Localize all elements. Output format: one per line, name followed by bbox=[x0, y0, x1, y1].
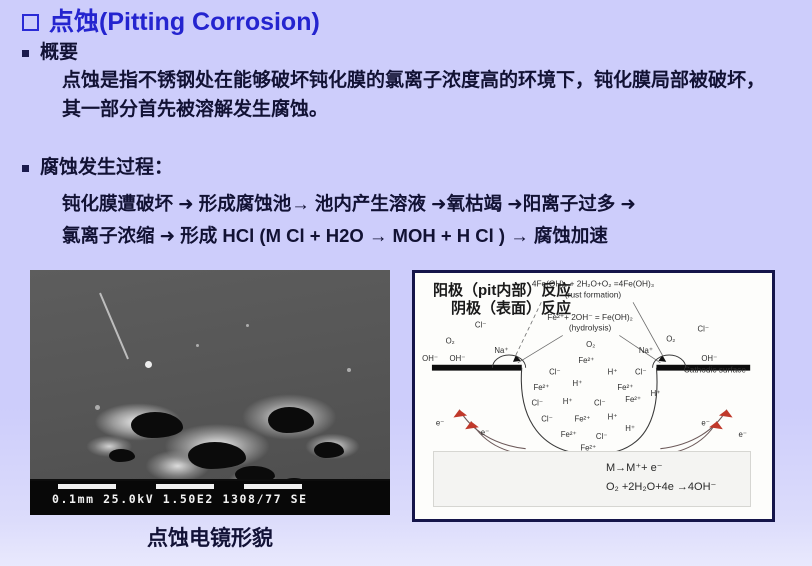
ion-label: Cl⁻ bbox=[596, 432, 607, 441]
electron-label: e⁻ bbox=[701, 418, 709, 427]
sem-micrograph-figure: 0.1mm 25.0kV 1.50E2 1308/77 SE bbox=[30, 270, 390, 515]
section-process-label: 腐蚀发生过程： bbox=[40, 155, 173, 181]
ion-label: Na⁺ bbox=[639, 346, 653, 355]
slide-title: 点蚀(Pitting Corrosion) bbox=[22, 2, 320, 38]
section-overview: 概要 点蚀是指不锈钢处在能够破坏钝化膜的氯离子浓度高的环境下，钝化膜局部被破坏，… bbox=[22, 40, 777, 125]
corrosion-pit bbox=[109, 449, 135, 462]
electron-label: e⁻ bbox=[738, 430, 746, 439]
ion-label: H⁺ bbox=[608, 412, 618, 421]
surface-speck bbox=[196, 344, 199, 347]
surface-speck bbox=[95, 405, 100, 410]
ion-label: OH⁻ bbox=[701, 354, 717, 363]
ion-label: Cl⁻ bbox=[594, 399, 605, 408]
section-overview-paragraph: 点蚀是指不锈钢处在能够破坏钝化膜的氯离子浓度高的环境下，钝化膜局部被破坏，其一部… bbox=[62, 66, 777, 125]
ion-label: Fe²⁺ bbox=[578, 356, 594, 365]
section-overview-label: 概要 bbox=[40, 40, 78, 66]
ion-label: Fe²⁺ bbox=[625, 395, 641, 404]
rust-reaction-line-2: (rust formation) bbox=[565, 289, 621, 299]
ion-label: O₂ bbox=[666, 334, 675, 343]
sem-bright-particle bbox=[145, 361, 152, 368]
corrosion-pit bbox=[268, 407, 314, 433]
pitting-mechanism-diagram: 4Fe(OH)₂ + 2H₂O+O₂ =4Fe(OH)₃ (rust forma… bbox=[412, 270, 775, 522]
ion-label: O₂ bbox=[586, 340, 595, 349]
ion-label: H⁺ bbox=[573, 379, 583, 388]
sem-scale-ticks bbox=[30, 484, 390, 489]
cathodic-reaction-cn-label: 阴极（表面）反应 bbox=[451, 297, 571, 493]
hydrolysis-reaction-line-2: (hydrolysis) bbox=[569, 323, 612, 333]
ion-label: Cl⁻ bbox=[635, 368, 646, 377]
ion-label: H⁺ bbox=[651, 389, 661, 398]
ion-label: H⁺ bbox=[625, 424, 635, 433]
sem-info-bar-text: 0.1mm 25.0kV 1.50E2 1308/77 SE bbox=[52, 492, 308, 506]
section-process-heading: 腐蚀发生过程： bbox=[22, 155, 636, 181]
sem-micrograph-image: 0.1mm 25.0kV 1.50E2 1308/77 SE bbox=[30, 270, 390, 515]
square-bullet-icon bbox=[22, 165, 29, 172]
surface-speck bbox=[246, 324, 249, 327]
sem-figure-caption: 点蚀电镜形貌 bbox=[30, 522, 390, 552]
section-overview-heading: 概要 bbox=[22, 40, 777, 66]
page-title: 点蚀(Pitting Corrosion) bbox=[49, 2, 320, 38]
ion-label: Fe²⁺ bbox=[574, 414, 590, 423]
cathodic-surface-label: Cathodic surface bbox=[684, 365, 747, 375]
surface-speck bbox=[347, 368, 351, 372]
anodic-equation: M→M⁺+ e⁻ bbox=[606, 461, 663, 474]
ion-label: H⁺ bbox=[608, 368, 618, 377]
process-flow-line-1: 钝化膜遭破坏 ➜ 形成腐蚀池→ 池内产生溶液 ➜氧枯竭 ➜阳离子过多 ➜ bbox=[62, 188, 636, 220]
hollow-square-bullet-icon bbox=[22, 14, 39, 31]
process-flow-line-2: 氯离子浓缩 ➜ 形成 HCl (M Cl + H2O → MOH + H Cl … bbox=[62, 220, 636, 252]
sem-info-bar: 0.1mm 25.0kV 1.50E2 1308/77 SE bbox=[30, 479, 390, 515]
section-process: 腐蚀发生过程： 钝化膜遭破坏 ➜ 形成腐蚀池→ 池内产生溶液 ➜氧枯竭 ➜阳离子… bbox=[22, 155, 636, 252]
corrosion-pit bbox=[131, 412, 183, 438]
cathodic-equation: O₂ +2H₂O+4e →4OH⁻ bbox=[606, 480, 716, 493]
ion-label: Cl⁻ bbox=[697, 325, 708, 334]
square-bullet-icon bbox=[22, 50, 29, 57]
ion-label: Fe²⁺ bbox=[617, 383, 633, 392]
